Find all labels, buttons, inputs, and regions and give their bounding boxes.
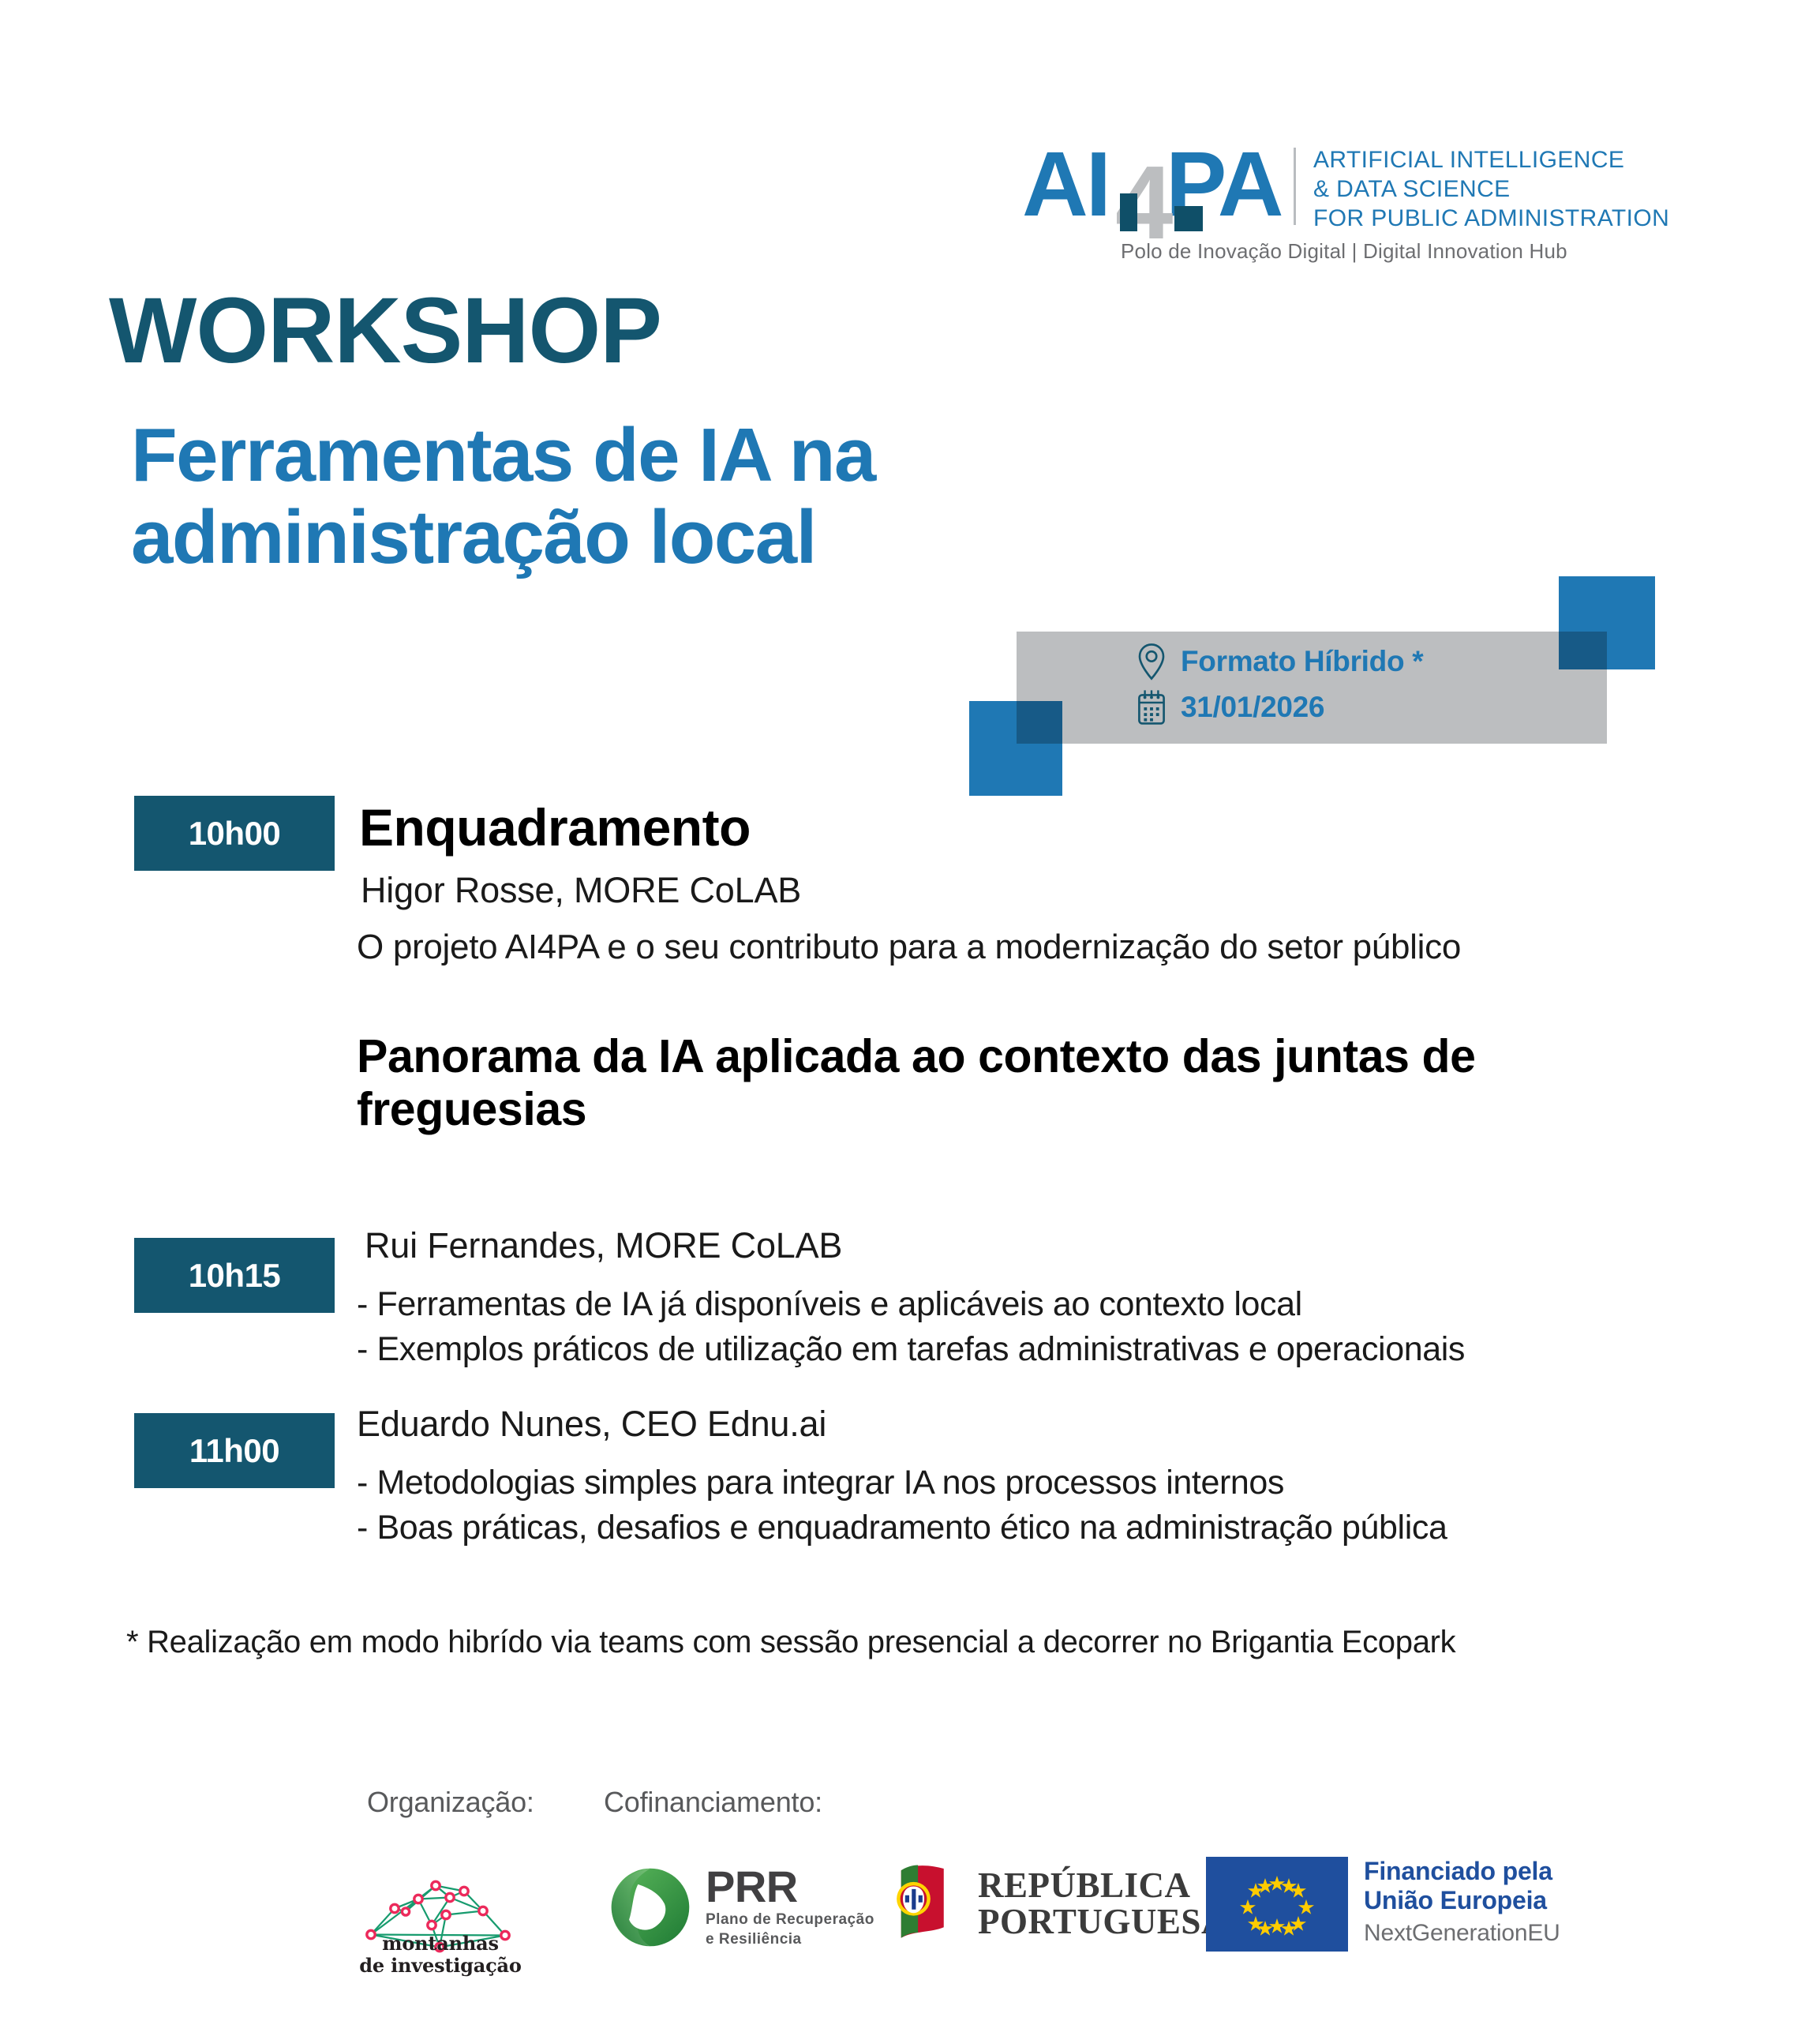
prr-logo: PRR Plano de Recuperação e Resiliência [606, 1863, 874, 1952]
agenda-section-heading: Panorama da IA aplicada ao contexto das … [357, 1030, 1635, 1137]
eu-text-block: Financiado pela União Europeia NextGener… [1364, 1857, 1560, 1948]
calendar-icon [1135, 688, 1168, 726]
logo-line-1: ARTIFICIAL INTELLIGENCE [1313, 146, 1669, 175]
montanhas-caption-line-1: montanhas [347, 1933, 534, 1955]
agenda-bullet: - Exemplos práticos de utilização em tar… [357, 1327, 1465, 1372]
prr-emblem-icon [606, 1863, 695, 1952]
republica-line-2: PORTUGUESA [978, 1904, 1227, 1940]
event-format-label: Formato Híbrido * [1181, 645, 1423, 678]
prr-acronym: PRR [706, 1865, 874, 1907]
event-date-row: 31/01/2026 [1135, 688, 1324, 726]
agenda-speaker-3: Eduardo Nunes, CEO Ednu.ai [357, 1404, 826, 1445]
agenda-time-badge-3: 11h00 [134, 1413, 335, 1488]
eu-line-3: NextGenerationEU [1364, 1918, 1560, 1948]
agenda-time-badge-2: 10h15 [134, 1238, 335, 1313]
agenda-speaker-1: Higor Rosse, MORE CoLAB [361, 870, 801, 911]
republica-line-1: REPÚBLICA [978, 1868, 1227, 1904]
logo-subtitle: Polo de Inovação Digital | Digital Innov… [1121, 239, 1567, 264]
portugal-flag-icon [888, 1862, 961, 1947]
prr-subtitle-line-2: e Resiliência [706, 1930, 874, 1950]
montanhas-caption: montanhas de investigação [347, 1933, 534, 1978]
logo-line-3: FOR PUBLIC ADMINISTRATION [1313, 204, 1669, 234]
republica-text-block: REPÚBLICA PORTUGUESA [978, 1868, 1227, 1940]
footnote-text: * Realização em modo hibrído via teams c… [126, 1625, 1455, 1660]
prr-subtitle: Plano de Recuperação e Resiliência [706, 1910, 874, 1949]
eu-funding-logo: Financiado pela União Europeia NextGener… [1206, 1857, 1560, 1952]
logo-line-2: & DATA SCIENCE [1313, 175, 1669, 204]
page-title: Ferramentas de IA na administração local [131, 414, 1315, 578]
prr-text-block: PRR Plano de Recuperação e Resiliência [706, 1865, 874, 1950]
logo-tagline-block: ARTIFICIAL INTELLIGENCE & DATA SCIENCE F… [1313, 144, 1669, 234]
event-info-box: Formato Híbrido * 31/01/20 [1017, 632, 1607, 744]
agenda-description-1: O projeto AI4PA e o seu contributo para … [357, 928, 1461, 967]
ai4pa-logo: AI 4 PA ARTIFICIAL INTELLIGENCE & DATA S… [1022, 144, 1669, 243]
page-kicker: WORKSHOP [109, 284, 661, 377]
logo-accent-block-left [1120, 193, 1137, 231]
decor-square-top-right [1559, 576, 1655, 669]
agenda-speaker-2: Rui Fernandes, MORE CoLAB [365, 1225, 842, 1266]
cofinancing-label: Cofinanciamento: [604, 1786, 822, 1819]
eu-line-2: União Europeia [1364, 1886, 1560, 1915]
eu-line-1: Financiado pela [1364, 1857, 1560, 1886]
agenda-item-title-1: Enquadramento [359, 797, 751, 857]
logo-accent-block-right [1174, 206, 1203, 231]
agenda-bullets-3: - Metodologias simples para integrar IA … [357, 1460, 1447, 1550]
agenda-bullets-2: - Ferramentas de IA já disponíveis e apl… [357, 1282, 1465, 1372]
event-format-row: Formato Híbrido * [1135, 643, 1423, 681]
agenda-bullet: - Boas práticas, desafios e enquadrament… [357, 1505, 1447, 1550]
montanhas-caption-line-2: de investigação [347, 1955, 534, 1977]
eu-flag-icon [1206, 1857, 1348, 1952]
logo-divider [1294, 148, 1296, 225]
prr-subtitle-line-1: Plano de Recuperação [706, 1910, 874, 1930]
ai4pa-wordmark: AI 4 PA [1022, 144, 1283, 243]
logo-letters-ai: AI [1022, 138, 1109, 230]
organization-label: Organização: [367, 1786, 534, 1819]
poster-canvas: AI 4 PA ARTIFICIAL INTELLIGENCE & DATA S… [0, 0, 1820, 2021]
decor-square-bottom-left [969, 701, 1062, 796]
agenda-time-badge-1: 10h00 [134, 796, 335, 871]
event-date-label: 31/01/2026 [1181, 691, 1324, 724]
location-pin-icon [1135, 643, 1168, 681]
republica-portuguesa-logo: REPÚBLICA PORTUGUESA [888, 1862, 1227, 1947]
agenda-bullet: - Ferramentas de IA já disponíveis e apl… [357, 1282, 1465, 1327]
agenda-bullet: - Metodologias simples para integrar IA … [357, 1460, 1447, 1505]
